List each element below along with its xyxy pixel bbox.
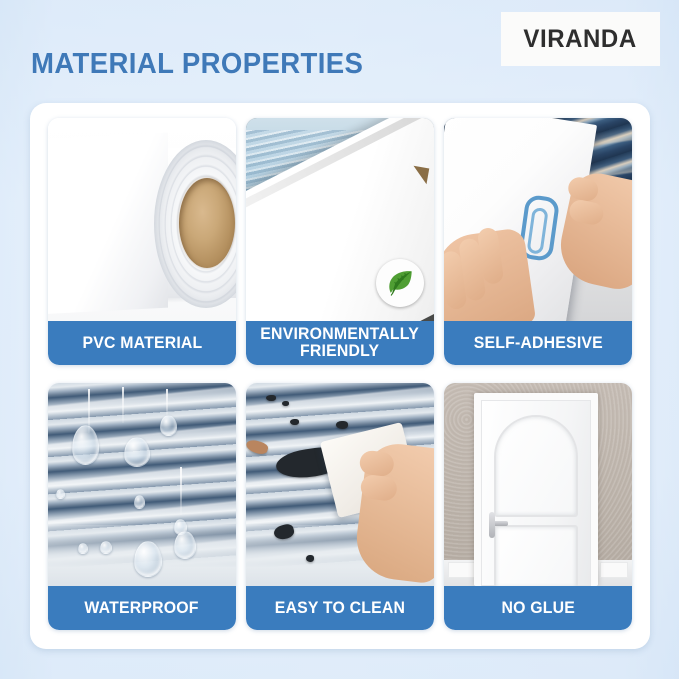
feature-label-easy-to-clean: EASY TO CLEAN: [246, 586, 434, 630]
feature-label-text: PVC MATERIAL: [82, 335, 202, 352]
feature-label-environmentally-friendly: ENVIRONMENTALLY FRIENDLY: [246, 321, 434, 365]
feature-label-no-glue: NO GLUE: [444, 586, 632, 630]
feature-tile-easy-to-clean[interactable]: EASY TO CLEAN: [246, 383, 434, 630]
feature-label-text: EASY TO CLEAN: [275, 600, 405, 617]
infographic-page: MATERIAL PROPERTIES VIRANDA PVC MATERIAL: [0, 0, 679, 679]
pvc-material-image: [48, 118, 236, 321]
feature-label-self-adhesive: SELF-ADHESIVE: [444, 321, 632, 365]
brand-logo-text: VIRANDA: [524, 25, 637, 54]
no-glue-image: [444, 383, 632, 586]
door: [474, 393, 598, 586]
left-hand: [444, 227, 536, 321]
waterproof-image: [48, 383, 236, 586]
feature-label-line1: ENVIRONMENTALLY: [261, 325, 420, 343]
eco-badge: [376, 259, 424, 307]
feature-label-pvc-material: PVC MATERIAL: [48, 321, 236, 365]
feature-tile-self-adhesive[interactable]: SELF-ADHESIVE: [444, 118, 632, 365]
feature-tile-no-glue[interactable]: NO GLUE: [444, 383, 632, 630]
feature-label-text: SELF-ADHESIVE: [473, 335, 602, 352]
brand-logo: VIRANDA: [501, 12, 660, 66]
feature-tile-environmentally-friendly[interactable]: ENVIRONMENTALLY FRIENDLY: [246, 118, 434, 365]
feature-label-text: ENVIRONMENTALLY FRIENDLY: [261, 326, 420, 360]
self-adhesive-image: [444, 118, 632, 321]
easy-to-clean-image: [246, 383, 434, 586]
leaf-icon: [383, 266, 417, 300]
door-handle-icon: [492, 521, 508, 526]
hand: [352, 440, 434, 584]
feature-grid: PVC MATERIAL: [48, 118, 632, 630]
feature-tile-pvc-material[interactable]: PVC MATERIAL: [48, 118, 236, 365]
feature-label-waterproof: WATERPROOF: [48, 586, 236, 630]
feature-label-text: NO GLUE: [501, 600, 575, 617]
feature-label-text: WATERPROOF: [85, 600, 199, 617]
roll-core: [179, 178, 235, 268]
page-title: MATERIAL PROPERTIES: [31, 48, 363, 81]
feature-tile-waterproof[interactable]: WATERPROOF: [48, 383, 236, 630]
feature-label-line2: FRIENDLY: [300, 342, 379, 360]
environmentally-friendly-image: [246, 118, 434, 321]
